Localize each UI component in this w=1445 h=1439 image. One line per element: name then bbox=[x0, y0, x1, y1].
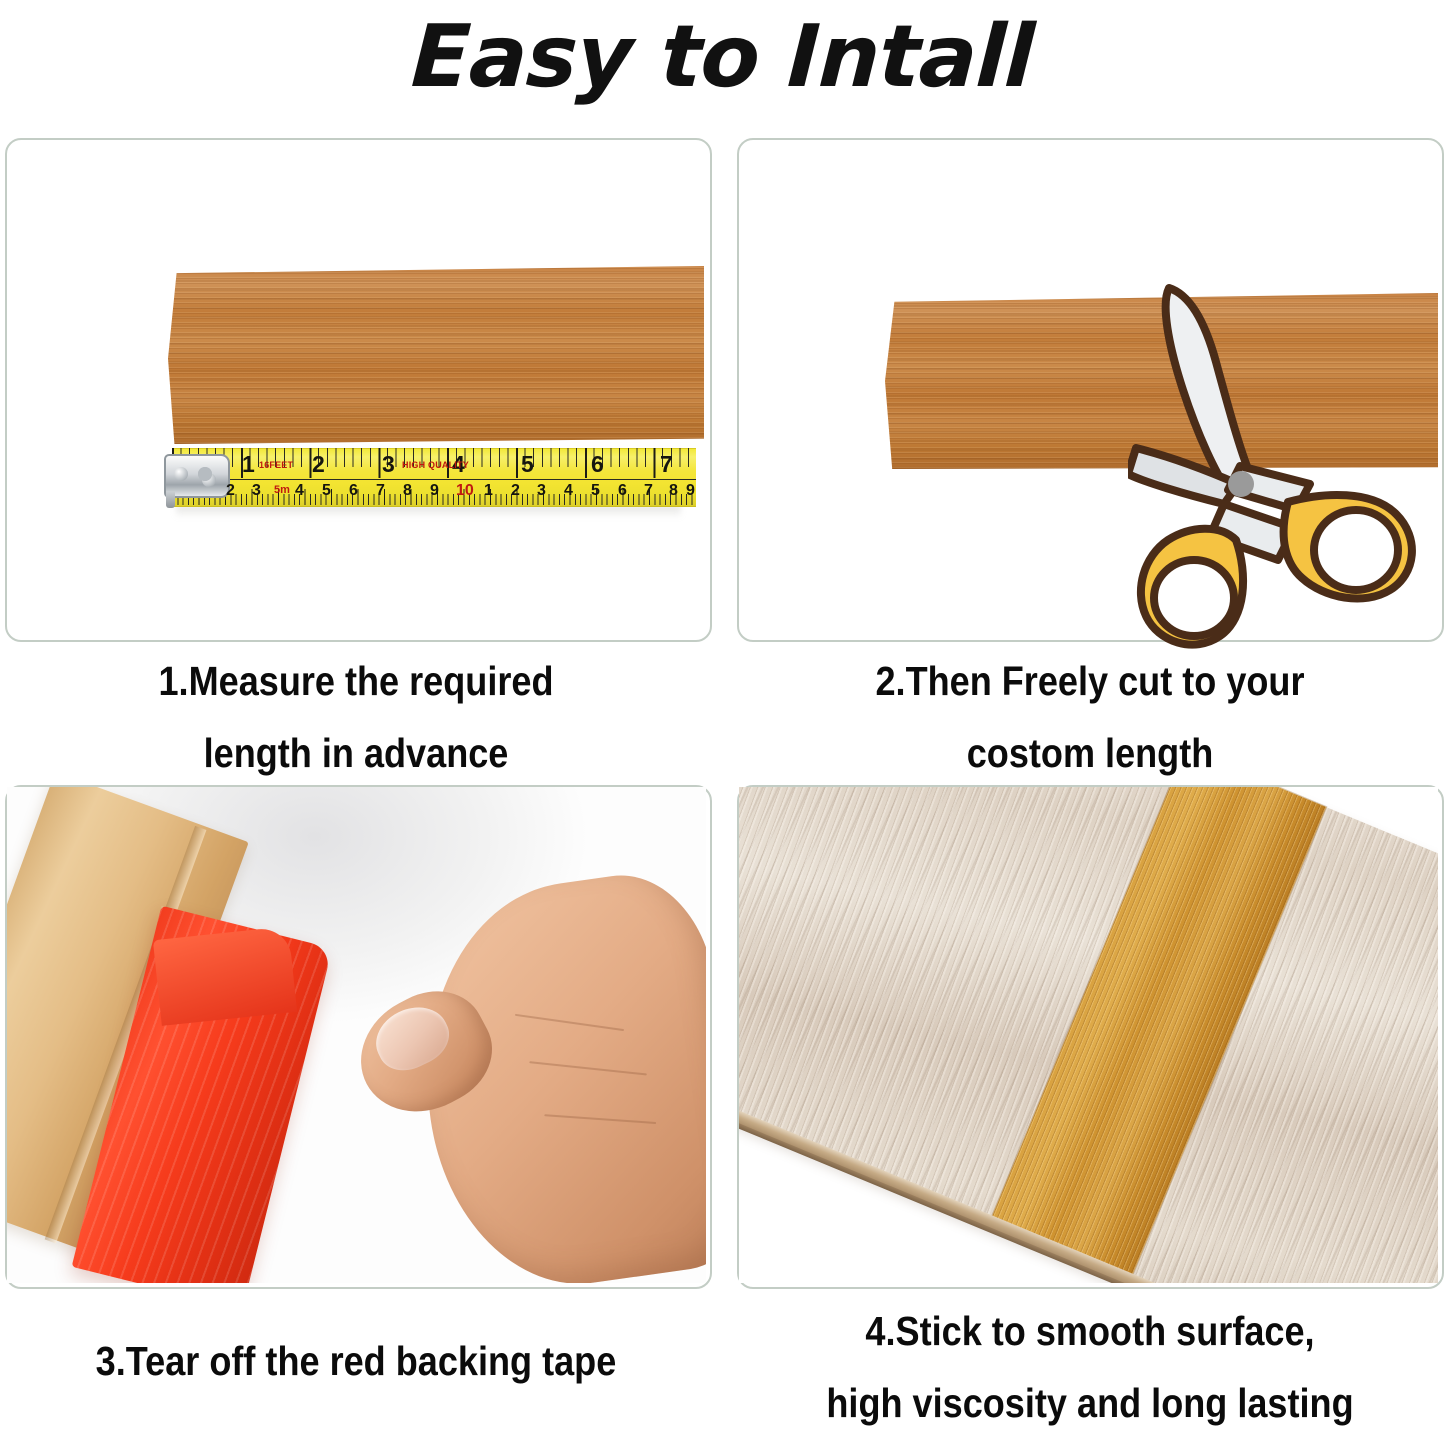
knuckle-line bbox=[529, 1061, 647, 1075]
tape-measure: 1 2 3 4 5 6 7 16FEET HIGH QUALITY 5m 2 3… bbox=[164, 448, 696, 505]
tape-metric-14: 4 bbox=[564, 483, 573, 499]
tape-quality-label: HIGH QUALITY bbox=[402, 460, 469, 470]
tape-metric-4: 4 bbox=[295, 483, 304, 499]
knuckle-line bbox=[515, 1014, 624, 1031]
peel-tape-photo bbox=[7, 787, 706, 1283]
tape-metric-18: 8 bbox=[669, 483, 678, 499]
scissors-handle-lower bbox=[1141, 529, 1243, 645]
knuckle-line bbox=[544, 1114, 656, 1124]
step-caption-cut: 2.Then Freely cut to your costom length bbox=[778, 645, 1403, 789]
step-caption-peel: 3.Tear off the red backing tape bbox=[43, 1325, 670, 1397]
scissors-pivot-icon bbox=[1228, 471, 1254, 497]
tape-metric-8: 8 bbox=[403, 483, 412, 499]
tape-inch-1: 1 bbox=[242, 453, 255, 476]
step-caption-stick: 4.Stick to smooth surface, high viscosit… bbox=[778, 1295, 1403, 1439]
page-title: Easy to Intall bbox=[0, 2, 1445, 112]
tape-metric-13: 3 bbox=[537, 483, 546, 499]
tape-inch-3: 3 bbox=[382, 453, 395, 476]
red-tape-peeled-flap bbox=[153, 926, 297, 1026]
tape-metric-label: 5m bbox=[274, 484, 290, 496]
step-caption-measure: 1.Measure the required length in advance bbox=[43, 645, 670, 789]
tape-metric-7: 7 bbox=[376, 483, 385, 499]
applied-edge-banding-strip bbox=[987, 787, 1326, 1283]
tape-metric-5: 5 bbox=[322, 483, 331, 499]
tape-hook-tab bbox=[166, 492, 175, 508]
tape-metric-9: 9 bbox=[430, 483, 439, 499]
tape-brand-label: 16FEET bbox=[259, 460, 293, 470]
tape-metric-6: 6 bbox=[349, 483, 358, 499]
tape-hook-rivet bbox=[202, 473, 216, 487]
tape-inch-2: 2 bbox=[312, 453, 325, 476]
tape-center-line bbox=[172, 479, 696, 480]
tape-inch-7: 7 bbox=[660, 453, 673, 476]
tape-metric-10: 10 bbox=[456, 483, 474, 499]
scissors-handle-upper bbox=[1284, 495, 1412, 599]
tape-metric-17: 7 bbox=[644, 483, 653, 499]
tape-metric-11: 1 bbox=[484, 483, 493, 499]
tape-metric-12: 2 bbox=[511, 483, 520, 499]
tape-metric-19: 9 bbox=[686, 483, 695, 499]
tape-metric-15: 5 bbox=[591, 483, 600, 499]
scissors-icon bbox=[1128, 278, 1438, 650]
tape-inch-5: 5 bbox=[521, 453, 534, 476]
applied-banding-photo bbox=[739, 787, 1438, 1283]
tape-metric-16: 6 bbox=[618, 483, 627, 499]
wood-edge-banding-strip bbox=[168, 266, 704, 444]
tape-metric-3: 3 bbox=[252, 483, 261, 499]
tape-inch-6: 6 bbox=[591, 453, 604, 476]
tape-metric-2: 2 bbox=[226, 483, 235, 499]
